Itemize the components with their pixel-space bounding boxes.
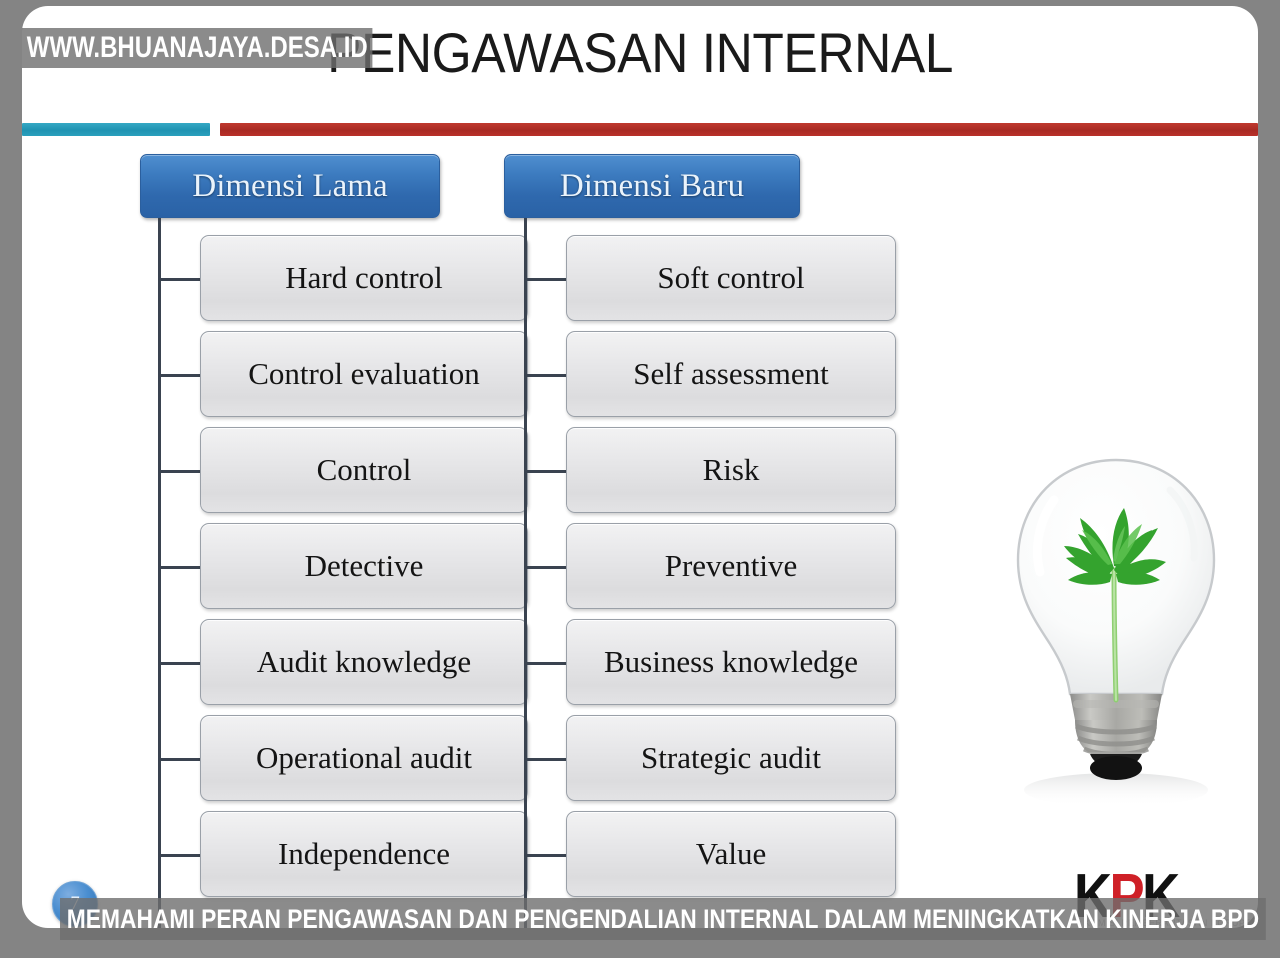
tree-branch bbox=[524, 662, 568, 665]
item-label: Control evaluation bbox=[248, 356, 480, 392]
item-label: Value bbox=[696, 836, 767, 872]
list-item[interactable]: Audit knowledge bbox=[120, 616, 520, 712]
list-item[interactable]: Preventive bbox=[484, 520, 884, 616]
list-item[interactable]: Risk bbox=[484, 424, 884, 520]
list-item[interactable]: Self assessment bbox=[484, 328, 884, 424]
item-box[interactable]: Independence bbox=[200, 811, 528, 897]
item-box[interactable]: Self assessment bbox=[566, 331, 896, 417]
item-list-left: Hard control Control evaluation Control bbox=[120, 232, 520, 904]
item-label: Detective bbox=[305, 548, 424, 584]
item-box[interactable]: Detective bbox=[200, 523, 528, 609]
item-box[interactable]: Hard control bbox=[200, 235, 528, 321]
list-item[interactable]: Hard control bbox=[120, 232, 520, 328]
item-label: Operational audit bbox=[256, 740, 472, 776]
tree-branch bbox=[158, 662, 202, 665]
item-label: Strategic audit bbox=[641, 740, 821, 776]
tree-branch bbox=[158, 278, 202, 281]
watermark-bottom-caption: MEMAHAMI PERAN PENGAWASAN DAN PENGENDALI… bbox=[60, 898, 1266, 940]
item-list-right: Soft control Self assessment Risk bbox=[484, 232, 884, 904]
column-header-right[interactable]: Dimensi Baru bbox=[504, 154, 800, 218]
lightbulb-with-sprout-icon bbox=[974, 438, 1258, 842]
tree-branch bbox=[158, 470, 202, 473]
item-label: Self assessment bbox=[633, 356, 828, 392]
list-item[interactable]: Control bbox=[120, 424, 520, 520]
column-dimensi-lama: Dimensi Lama Hard control Control evalua… bbox=[120, 154, 520, 218]
item-box[interactable]: Business knowledge bbox=[566, 619, 896, 705]
item-label: Risk bbox=[703, 452, 760, 488]
accent-rule-red bbox=[220, 123, 1258, 136]
item-box[interactable]: Control evaluation bbox=[200, 331, 528, 417]
item-box[interactable]: Preventive bbox=[566, 523, 896, 609]
tree-branch bbox=[524, 278, 568, 281]
screenshot-root: PENGAWASAN INTERNAL Dimensi Lama Hard co… bbox=[0, 0, 1280, 958]
lightbulb-image bbox=[974, 438, 1258, 842]
item-label: Control bbox=[317, 452, 412, 488]
presentation-slide: PENGAWASAN INTERNAL Dimensi Lama Hard co… bbox=[22, 6, 1258, 928]
item-label: Preventive bbox=[665, 548, 798, 584]
column-header-right-label: Dimensi Baru bbox=[560, 168, 744, 205]
item-label: Audit knowledge bbox=[257, 644, 471, 680]
accent-rule-teal bbox=[22, 123, 210, 136]
item-box[interactable]: Control bbox=[200, 427, 528, 513]
tree-branch bbox=[158, 566, 202, 569]
item-label: Hard control bbox=[285, 260, 443, 296]
column-dimensi-baru: Dimensi Baru Soft control Self assessmen… bbox=[484, 154, 884, 218]
list-item[interactable]: Independence bbox=[120, 808, 520, 904]
list-item[interactable]: Value bbox=[484, 808, 884, 904]
tree-branch bbox=[524, 566, 568, 569]
item-box[interactable]: Soft control bbox=[566, 235, 896, 321]
item-box[interactable]: Risk bbox=[566, 427, 896, 513]
list-item[interactable]: Business knowledge bbox=[484, 616, 884, 712]
tree-branch bbox=[524, 470, 568, 473]
list-item[interactable]: Detective bbox=[120, 520, 520, 616]
list-item[interactable]: Control evaluation bbox=[120, 328, 520, 424]
column-header-left[interactable]: Dimensi Lama bbox=[140, 154, 440, 218]
tree-branch bbox=[158, 758, 202, 761]
column-header-left-label: Dimensi Lama bbox=[192, 168, 387, 205]
watermark-top: WWW.BHUANAJAYA.DESA.ID bbox=[22, 28, 373, 68]
item-label: Independence bbox=[278, 836, 450, 872]
tree-branch bbox=[524, 374, 568, 377]
item-label: Soft control bbox=[657, 260, 804, 296]
list-item[interactable]: Strategic audit bbox=[484, 712, 884, 808]
item-box[interactable]: Audit knowledge bbox=[200, 619, 528, 705]
tree-branch bbox=[158, 854, 202, 857]
item-label: Business knowledge bbox=[604, 644, 858, 680]
tree-branch bbox=[158, 374, 202, 377]
item-box[interactable]: Strategic audit bbox=[566, 715, 896, 801]
item-box[interactable]: Operational audit bbox=[200, 715, 528, 801]
tree-branch bbox=[524, 758, 568, 761]
list-item[interactable]: Operational audit bbox=[120, 712, 520, 808]
item-box[interactable]: Value bbox=[566, 811, 896, 897]
list-item[interactable]: Soft control bbox=[484, 232, 884, 328]
tree-branch bbox=[524, 854, 568, 857]
